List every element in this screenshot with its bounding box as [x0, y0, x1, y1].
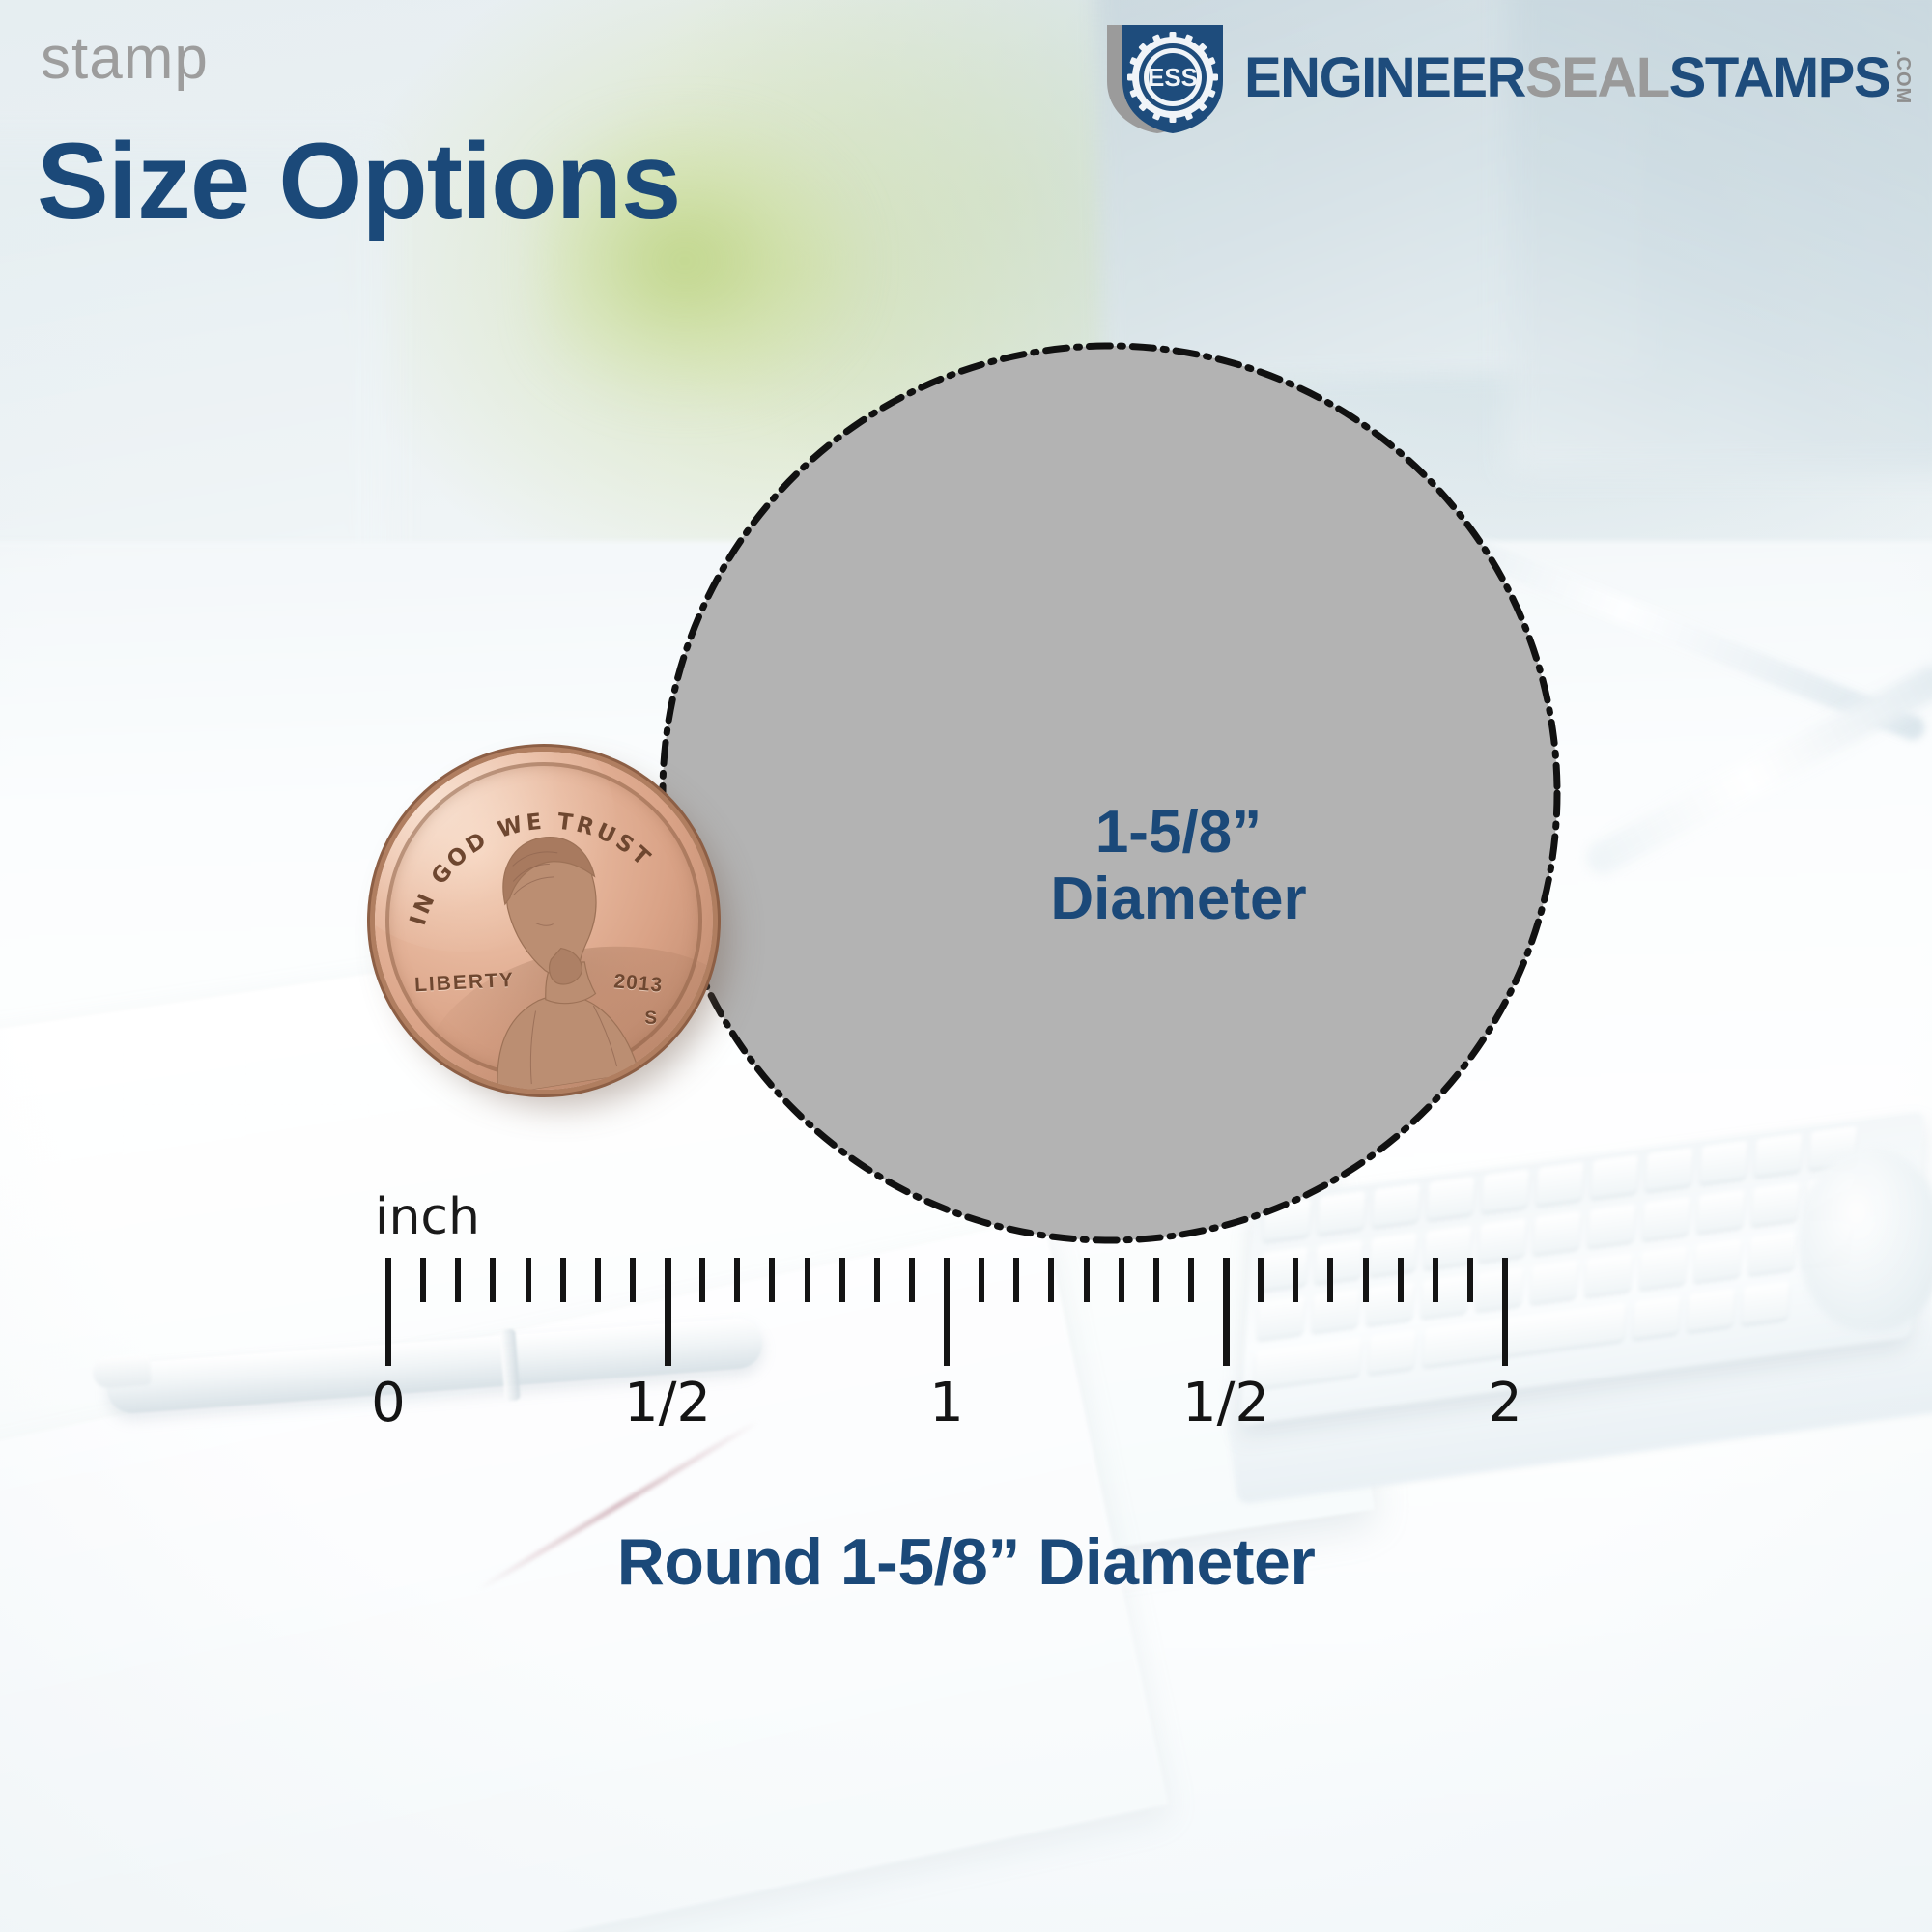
ruler-label: 0: [371, 1372, 406, 1435]
size-dimension-unit: Diameter: [1050, 866, 1306, 932]
brand-word-seal: SEAL: [1525, 50, 1669, 106]
size-dimension-label: 1-5/8” Diameter: [1050, 799, 1306, 933]
brand-wordmark: ENGINEER SEAL STAMPS .COM: [1244, 50, 1913, 106]
ruler-tick-minor: [490, 1258, 496, 1302]
ruler-tick-minor: [839, 1258, 845, 1302]
penny-year-text: 2013: [613, 970, 665, 997]
shield-initials: ESS: [1148, 63, 1198, 92]
size-caption: Round 1-5/8” Diameter: [0, 1524, 1932, 1600]
ess-shield-icon: ESS: [1101, 21, 1229, 135]
ruler-tick-inch: [385, 1258, 391, 1366]
ruler-tick-half: [665, 1258, 671, 1366]
ruler-tick-minor: [805, 1258, 810, 1302]
ruler-tick-minor: [420, 1258, 426, 1302]
ruler-tick-minor: [1433, 1258, 1438, 1302]
ruler-unit-label: inch: [375, 1188, 480, 1246]
ruler-label: 1/2: [624, 1372, 711, 1435]
ruler-tick-minor: [1398, 1258, 1404, 1302]
ruler-tick-minor: [734, 1258, 740, 1302]
ruler-tick-minor: [1153, 1258, 1159, 1302]
kicker-label: stamp: [41, 29, 209, 89]
ruler-tick-minor: [455, 1258, 461, 1302]
size-options-graphic: stamp Size Options: [0, 0, 1932, 1932]
ruler-tick-minor: [909, 1258, 915, 1302]
inch-ruler: inch 01/211/22: [0, 1188, 1932, 1497]
brand-logo[interactable]: ESS ENGINEER SEAL STAMPS .COM: [1101, 21, 1913, 135]
ruler-tick-minor: [979, 1258, 984, 1302]
ruler-tick-minor: [1048, 1258, 1054, 1302]
ruler-tick-minor: [1013, 1258, 1019, 1302]
ruler-tick-minor: [595, 1258, 601, 1302]
ruler-tick-minor: [526, 1258, 531, 1302]
penny-mint-mark: S: [644, 1009, 659, 1030]
ruler-tick-minor: [1293, 1258, 1298, 1302]
brand-word-stamps: STAMPS: [1669, 50, 1889, 106]
brand-word-engineer: ENGINEER: [1244, 50, 1525, 106]
ruler-tick-inch: [1502, 1258, 1508, 1366]
ruler-tick-minor: [874, 1258, 880, 1302]
ruler-tick-minor: [630, 1258, 636, 1302]
ruler-tick-minor: [699, 1258, 705, 1302]
brand-dotcom: .COM: [1893, 50, 1913, 104]
ruler-label: 2: [1488, 1372, 1522, 1435]
ruler-tick-minor: [1119, 1258, 1124, 1302]
ruler-tick-inch: [944, 1258, 950, 1366]
page-title: Size Options: [37, 128, 680, 236]
penny-reference-coin: IN GOD WE TRUST: [351, 727, 737, 1114]
ruler-tick-minor: [1327, 1258, 1333, 1302]
ruler-tick-minor: [1188, 1258, 1194, 1302]
ruler-tick-minor: [769, 1258, 775, 1302]
ruler-tick-minor: [1258, 1258, 1264, 1302]
ruler-tick-minor: [1467, 1258, 1473, 1302]
ruler-label: 1/2: [1182, 1372, 1269, 1435]
size-preview-circle: 1-5/8” Diameter: [663, 346, 1557, 1240]
size-dimension-value: 1-5/8”: [1050, 799, 1306, 866]
ruler-label: 1: [929, 1372, 964, 1435]
ruler-tick-half: [1223, 1258, 1230, 1366]
dashed-outline: [657, 340, 1563, 1246]
ruler-tick-minor: [1363, 1258, 1369, 1302]
ruler-tick-minor: [1084, 1258, 1090, 1302]
ruler-tick-minor: [560, 1258, 566, 1302]
